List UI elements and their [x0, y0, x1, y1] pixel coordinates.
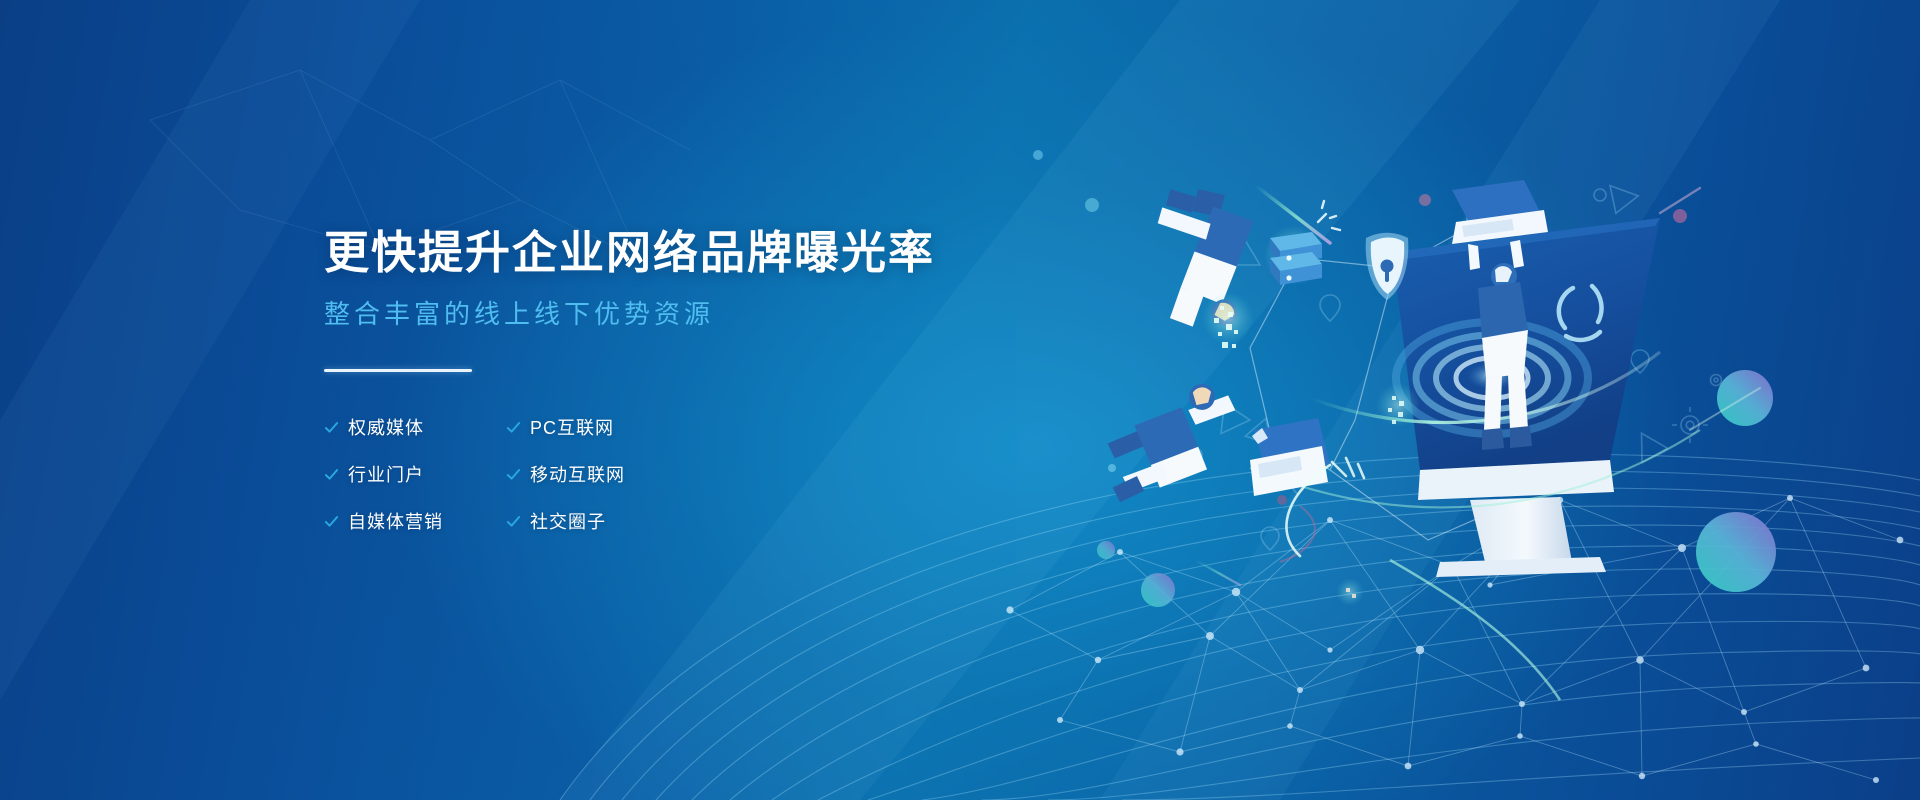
check-icon — [324, 467, 339, 482]
location-pin-outline-icon — [1261, 240, 1649, 550]
floating-person-monitor — [1468, 240, 1532, 450]
vortex-swirl — [1396, 322, 1588, 434]
ring-arc-deco — [1559, 286, 1602, 340]
feature-list: 权威媒体 PC互联网 行业门户 移动互联网 自媒体营销 社交圈子 — [324, 414, 744, 534]
feature-item-5: 社交圈子 — [506, 508, 744, 534]
gear-outline-icon — [1543, 241, 1722, 443]
network-mesh — [1010, 498, 1900, 780]
illustration-connectors — [1250, 228, 1640, 540]
hero-banner: 更快提升企业网络品牌曝光率 整合丰富的线上线下优势资源 权威媒体 PC互联网 行… — [0, 0, 1920, 800]
divider — [324, 369, 472, 372]
orbit-squiggle — [1286, 458, 1364, 556]
check-icon — [506, 514, 521, 529]
gradient-spheres — [1033, 150, 1776, 607]
banner-headline: 更快提升企业网络品牌曝光率 — [324, 228, 1024, 278]
feature-label: PC互联网 — [530, 414, 614, 440]
comet-streak — [1195, 185, 1760, 585]
floating-person-lower — [1096, 378, 1250, 503]
banner-subtitle: 整合丰富的线上线下优势资源 — [324, 294, 1024, 331]
feature-item-4: 自媒体营销 — [324, 508, 506, 534]
feature-item-1: PC互联网 — [506, 414, 744, 440]
feature-label: 权威媒体 — [348, 414, 424, 440]
feature-item-0: 权威媒体 — [324, 414, 506, 440]
feature-label: 移动互联网 — [530, 461, 625, 487]
sparkle-glow — [1202, 292, 1420, 606]
check-icon — [506, 420, 521, 435]
network-nodes — [1006, 495, 1903, 783]
check-icon — [506, 467, 521, 482]
check-icon — [324, 420, 339, 435]
feature-item-2: 行业门户 — [324, 461, 506, 487]
desktop-monitor — [1250, 218, 1700, 700]
check-icon — [324, 514, 339, 529]
outline-deco-icons — [1188, 186, 1722, 550]
shield-lock-icon — [1366, 233, 1409, 300]
triangle-outline-icon — [1210, 186, 1667, 470]
tablet-icon — [1250, 418, 1330, 496]
laptop-held-icon — [1452, 180, 1548, 244]
feature-label: 社交圈子 — [530, 508, 606, 534]
floating-person-upper — [1115, 170, 1287, 347]
circle-outline-icon — [1188, 448, 1202, 462]
feature-label: 行业门户 — [348, 461, 424, 487]
banner-text-block: 更快提升企业网络品牌曝光率 整合丰富的线上线下优势资源 权威媒体 PC互联网 行… — [324, 228, 1024, 534]
server-icon — [1264, 201, 1340, 285]
feature-label: 自媒体营销 — [348, 508, 443, 534]
feature-item-3: 移动互联网 — [506, 461, 744, 487]
circle-outline-icon — [1594, 189, 1606, 201]
